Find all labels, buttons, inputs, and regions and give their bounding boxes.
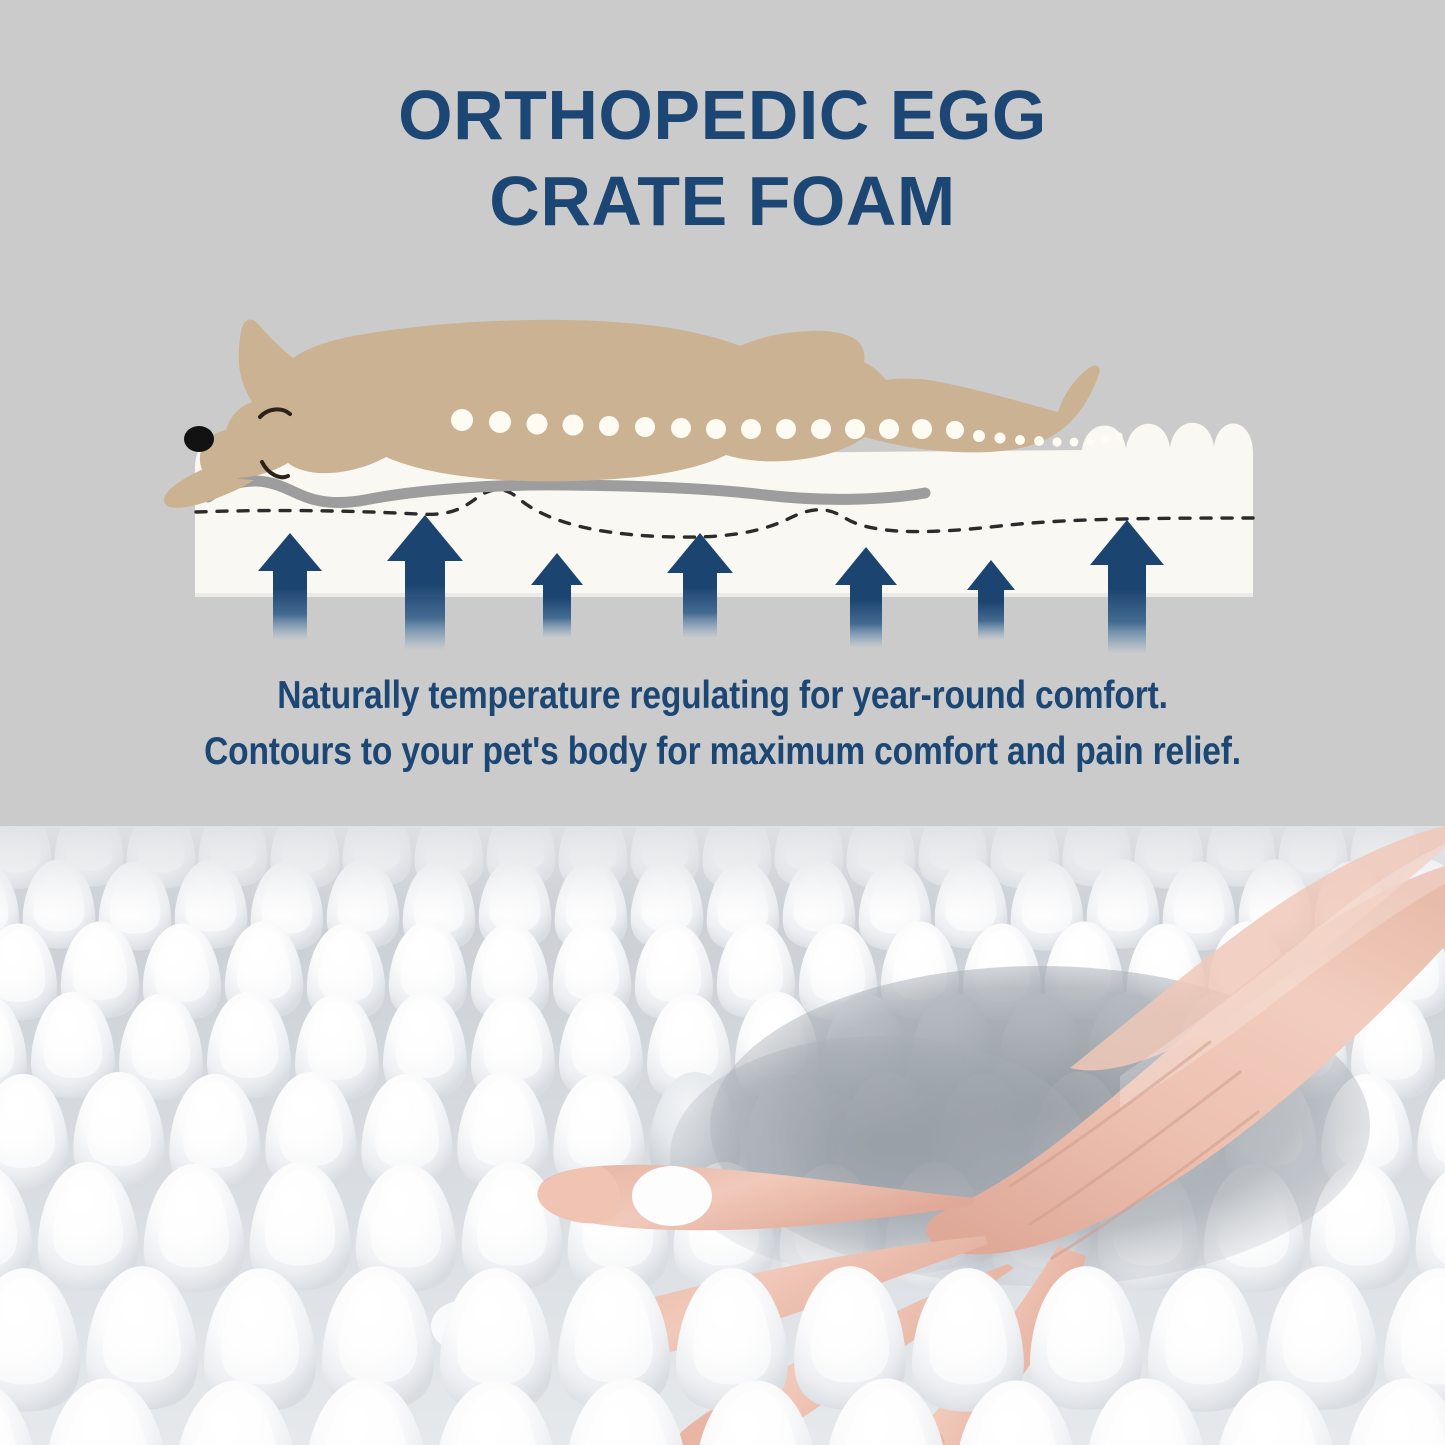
benefit-copy: Naturally temperature regulating for yea… (0, 668, 1445, 780)
dog-on-foam-diagram (0, 290, 1445, 660)
hand-pressing-foam-photo (0, 826, 1445, 1445)
foam-base-shadow (195, 593, 1253, 597)
benefit-line-1: Naturally temperature regulating for yea… (101, 668, 1344, 724)
illustration-panel: ORTHOPEDIC EGG CRATE FOAM (0, 0, 1445, 826)
foam-bump-through-fingers (632, 1166, 712, 1226)
benefit-line-2: Contours to your pet's body for maximum … (101, 724, 1344, 780)
page-title: ORTHOPEDIC EGG CRATE FOAM (0, 72, 1445, 244)
photo-top-haze (0, 826, 1445, 916)
foam-photo-panel (0, 826, 1445, 1445)
product-infographic: ORTHOPEDIC EGG CRATE FOAM (0, 0, 1445, 1445)
dog-nose-icon (184, 426, 214, 452)
